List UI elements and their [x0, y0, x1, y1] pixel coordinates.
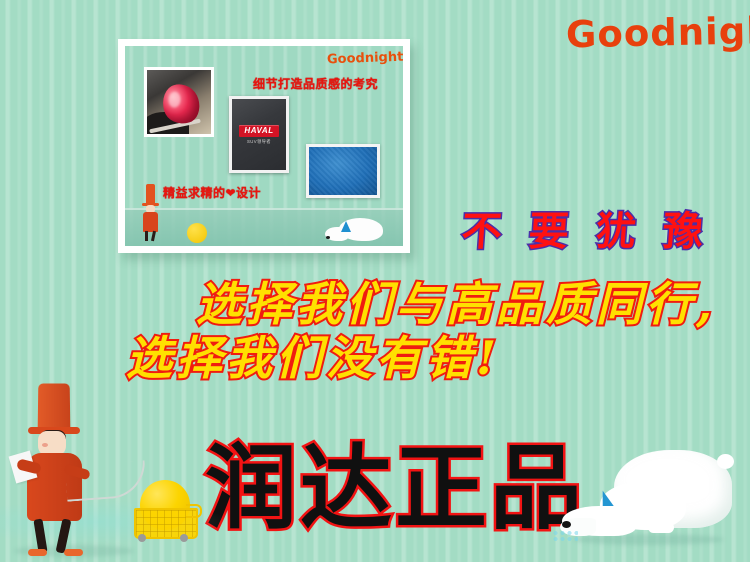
mini-man-coat — [143, 212, 158, 232]
photo-inner-scene: Goodnight 细节打造品质感的考究 精益求精的❤设计 HAVAL SUV领… — [125, 46, 403, 246]
bear-nose — [562, 521, 571, 528]
man-shoe-right — [64, 549, 83, 556]
mini-bear-nose — [326, 236, 330, 239]
haval-logo: HAVAL SUV领导者 — [239, 125, 279, 145]
photo-script-goodnight: Goodnight — [327, 50, 403, 68]
bear-ear — [717, 454, 734, 469]
photo-slogan-top: 细节打造品质感的考究 — [253, 75, 378, 92]
headline-do-not-hesitate: 不 要 犹 豫 — [460, 199, 713, 257]
man-cheek — [42, 443, 48, 447]
product-photo-card: Goodnight 细节打造品质感的考究 精益求精的❤设计 HAVAL SUV领… — [118, 39, 410, 253]
bear-water-splash — [552, 530, 578, 542]
mini-yellow-ball — [187, 223, 207, 243]
brand-script-goodnight: Goodnight — [566, 12, 750, 54]
polar-bear-illustration — [560, 448, 740, 548]
haval-subtitle: SUV领导者 — [240, 139, 278, 145]
mini-man-illustration — [139, 184, 163, 242]
man-shoe-left — [28, 549, 47, 556]
haval-wordmark: HAVAL — [239, 125, 279, 137]
shopping-cart-illustration — [128, 480, 200, 542]
thumbnail-blue-fabric-swatch — [306, 144, 380, 198]
mini-man-leg-left — [145, 231, 148, 241]
man-tall-hat — [38, 383, 71, 429]
photo-slogan-bottom: 精益求精的❤设计 — [163, 184, 261, 201]
poster-canvas: Goodnight Goodnight 细节打造品质感的考究 精益求精的❤设计 … — [0, 0, 750, 562]
cart-wheel-left — [138, 534, 146, 542]
slogan-line-2: 选择我们没有错! — [126, 322, 500, 388]
mini-bear-party-hat-icon — [341, 221, 351, 232]
cart-handle — [186, 504, 202, 518]
mini-man-leg-right — [151, 231, 156, 241]
thumbnail-red-shift-knob — [144, 67, 214, 137]
thumbnail-haval-card: HAVAL SUV领导者 — [229, 96, 289, 173]
bear-paw — [648, 522, 674, 533]
brand-name-runda-genuine: 润达正品 — [205, 414, 585, 547]
mini-man-hat — [146, 184, 155, 204]
mini-polar-bear — [325, 218, 383, 242]
cart-wheel-right — [180, 534, 188, 542]
